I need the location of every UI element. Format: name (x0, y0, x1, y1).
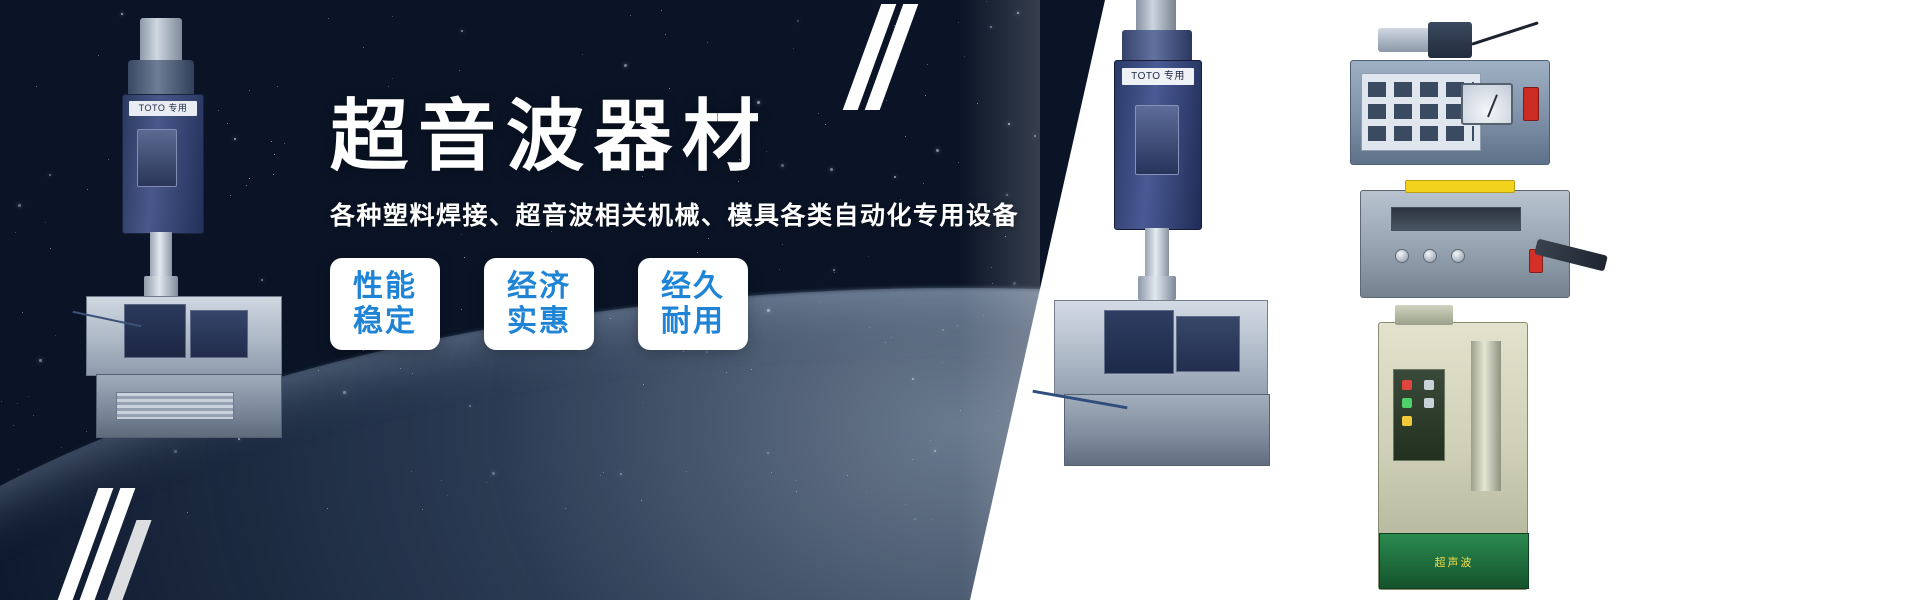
welder-fixture (1104, 310, 1174, 374)
transducer-booster (1428, 22, 1472, 58)
badge-line-1: 经久 (661, 269, 725, 304)
transducer-photo (1378, 18, 1496, 62)
machine-brand-label: TOTO 专用 (129, 101, 197, 116)
press-machine-photo: 超声波 (1378, 322, 1528, 590)
welder-display (1135, 105, 1179, 175)
machine-column (140, 18, 182, 64)
status-led-white (1424, 380, 1434, 390)
machine-shaft (150, 232, 172, 280)
status-led-yellow (1402, 416, 1412, 426)
badge-line-2: 稳定 (353, 304, 417, 339)
press-column (1471, 341, 1501, 491)
hero-banner: TOTO 专用 超音波器材 各种塑料焊接、超音波相关机械、模具各类自动化专用设备… (0, 0, 1920, 600)
press-top-cylinder (1395, 305, 1453, 325)
machine-display (137, 129, 177, 187)
welder-slot (1391, 207, 1521, 231)
status-led-green (1402, 398, 1412, 408)
left-product-photo: TOTO 专用 (78, 18, 293, 438)
status-led-white (1424, 398, 1434, 408)
control-knob (1423, 249, 1437, 263)
analog-meter (1461, 83, 1513, 125)
spot-welder-photo (1360, 190, 1570, 298)
badge-line-1: 经济 (507, 269, 571, 304)
panel-switch-row (1368, 126, 1474, 141)
control-knob (1451, 249, 1465, 263)
machine-fixture (124, 304, 186, 358)
welder-brand-label: TOTO 专用 (1122, 68, 1194, 85)
welder-horn (1138, 276, 1176, 300)
right-welder-photo: TOTO 专用 (1040, 0, 1280, 470)
banner-subtitle: 各种塑料焊接、超音波相关机械、模具各类自动化专用设备 (330, 196, 1010, 232)
welder-body: TOTO 专用 (1114, 60, 1202, 230)
meter-needle (1487, 94, 1498, 117)
press-control-panel (1393, 369, 1445, 461)
yellow-top-strip (1405, 180, 1515, 193)
press-base-text: 超声波 (1380, 554, 1528, 570)
power-switch (1523, 87, 1539, 121)
panel-switch-row (1368, 82, 1474, 97)
welder-column (1136, 0, 1176, 34)
power-supply-photo (1350, 60, 1550, 165)
status-led-red (1402, 380, 1412, 390)
welder-head (1122, 30, 1192, 64)
press-green-base: 超声波 (1379, 533, 1529, 589)
panel-switch-row (1368, 104, 1474, 119)
machine-head (128, 60, 194, 98)
welder-fixture (1176, 316, 1240, 372)
transducer-body (1378, 28, 1430, 52)
badge-line-2: 耐用 (661, 304, 725, 339)
banner-title: 超音波器材 (330, 96, 1010, 178)
control-knob (1395, 249, 1409, 263)
machine-fixture (190, 310, 248, 358)
machine-horn (144, 276, 178, 298)
welder-shaft (1145, 228, 1169, 280)
feature-badge-stability[interactable]: 性能 稳定 (330, 258, 440, 350)
badge-line-1: 性能 (353, 269, 417, 304)
feature-badge-list: 性能 稳定 经济 实惠 经久 耐用 (330, 258, 1010, 350)
feature-badge-economy[interactable]: 经济 实惠 (484, 258, 594, 350)
welder-base (1064, 394, 1270, 466)
banner-text-block: 超音波器材 各种塑料焊接、超音波相关机械、模具各类自动化专用设备 性能 稳定 经… (330, 96, 1010, 350)
feature-badge-durability[interactable]: 经久 耐用 (638, 258, 748, 350)
machine-vent (116, 392, 234, 420)
badge-line-2: 实惠 (507, 304, 571, 339)
machine-body: TOTO 专用 (122, 94, 204, 234)
